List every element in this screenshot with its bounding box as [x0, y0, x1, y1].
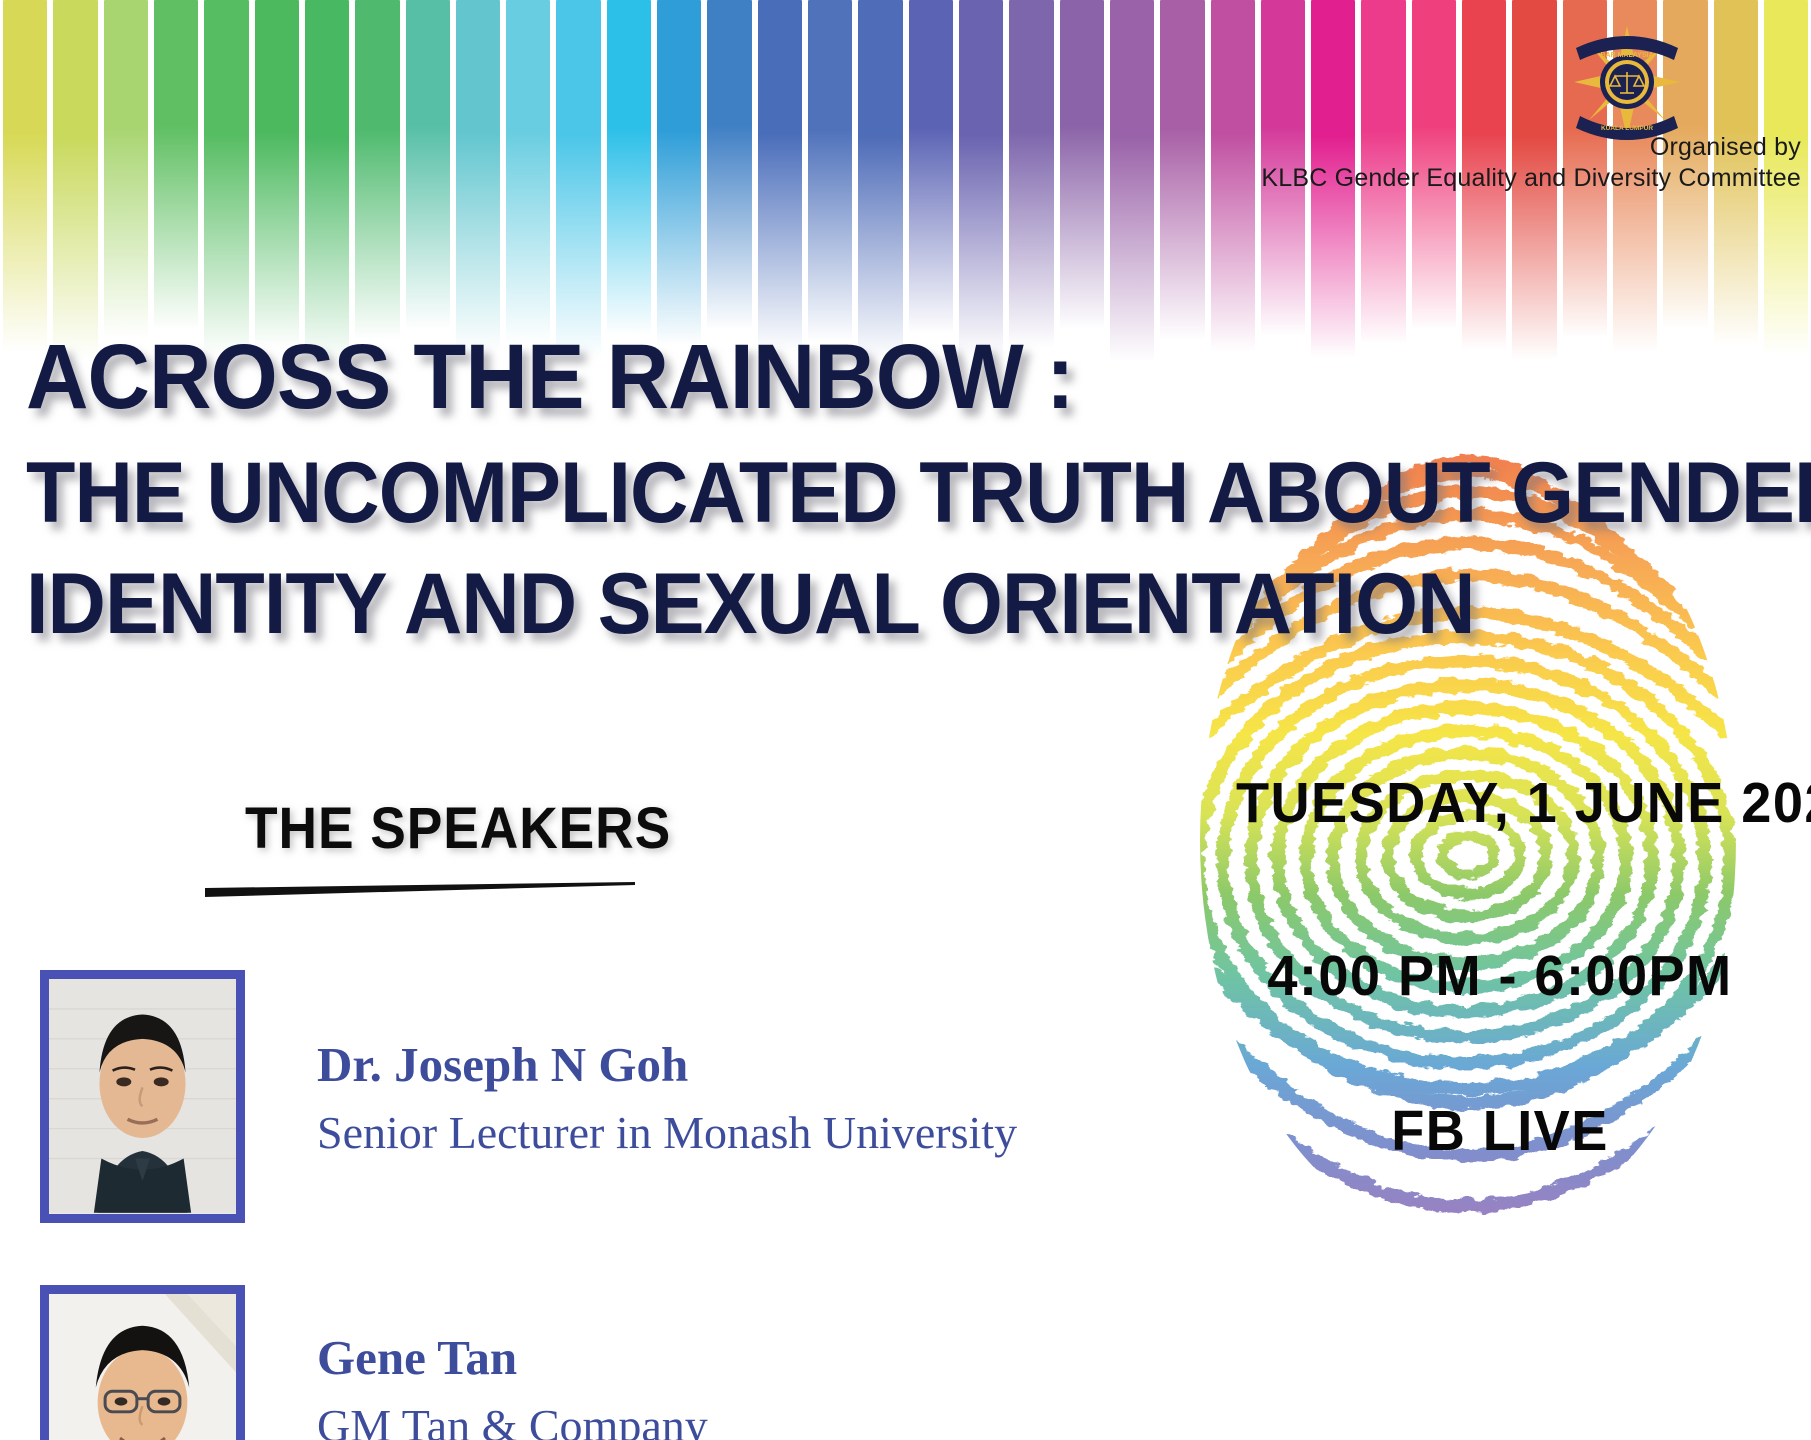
rainbow-bar: [456, 0, 500, 352]
rainbow-bar: [255, 0, 299, 348]
title-line-1: ACROSS THE RAINBOW :: [26, 318, 1680, 438]
rainbow-bar: [355, 0, 399, 340]
poster-canvas: BAR MALAYSIA KUALA LUMPUR Organised by K…: [0, 0, 1811, 1440]
event-time: 4:00 PM - 6:00PM: [1253, 943, 1747, 1009]
rainbow-bar: [858, 0, 902, 360]
logo-banner-top: BAR MALAYSIA: [1600, 52, 1653, 59]
rainbow-bar: [406, 0, 450, 330]
speakers-heading-wrap: THE SPEAKERS: [245, 795, 708, 862]
speaker-item: Gene Tan GM Tan & Company: [40, 1285, 708, 1440]
speaker-role: GM Tan & Company: [317, 1397, 708, 1440]
speaker-photo-joseph-n-goh: [40, 970, 245, 1223]
rainbow-bar: [3, 0, 47, 352]
speaker-role: Senior Lecturer in Monash University: [317, 1104, 1017, 1162]
rainbow-bar: [1160, 0, 1204, 340]
speaker-name: Dr. Joseph N Goh: [317, 1038, 1017, 1092]
speaker-photo-gene-tan: [40, 1285, 245, 1440]
rainbow-bar: [1211, 0, 1255, 352]
rainbow-bar: [707, 0, 751, 330]
rainbow-bar: [1060, 0, 1104, 330]
rainbow-bar: [909, 0, 953, 334]
title-line-2: THE UNCOMPLICATED TRUTH ABOUT GENDER: [26, 438, 1680, 550]
title-line-3: IDENTITY AND SEXUAL ORIENTATION: [26, 549, 1680, 661]
rainbow-bar: [1110, 0, 1154, 362]
rainbow-bar: [104, 0, 148, 338]
speaker-text: Dr. Joseph N Goh Senior Lecturer in Mona…: [317, 970, 1017, 1161]
page-title: ACROSS THE RAINBOW : THE UNCOMPLICATED T…: [26, 318, 1680, 661]
rainbow-bar: [657, 0, 701, 346]
rainbow-bar: [305, 0, 349, 362]
event-date: TUESDAY, 1 JUNE 2021: [1236, 770, 1768, 836]
rainbow-bar: [506, 0, 550, 344]
rainbow-bar: [154, 0, 198, 330]
rainbow-bar: [204, 0, 248, 356]
klbc-malaysian-bar-logo-icon: BAR MALAYSIA KUALA LUMPUR: [1568, 18, 1686, 146]
speaker-name: Gene Tan: [317, 1331, 708, 1385]
rainbow-bar: [1009, 0, 1053, 348]
logo-banner-bottom: KUALA LUMPUR: [1601, 125, 1653, 132]
rainbow-bar: [53, 0, 97, 360]
organiser-credit: Organised by KLBC Gender Equality and Di…: [1261, 132, 1801, 193]
speakers-heading-underline: [205, 882, 635, 898]
organised-by-label: Organised by: [1261, 132, 1801, 163]
rainbow-bar: [556, 0, 600, 358]
event-platform: FB LIVE: [1282, 1098, 1719, 1164]
speaker-item: Dr. Joseph N Goh Senior Lecturer in Mona…: [40, 970, 1017, 1223]
rainbow-bar: [758, 0, 802, 352]
organiser-name: KLBC Gender Equality and Diversity Commi…: [1261, 163, 1801, 194]
speakers-heading: THE SPEAKERS: [245, 795, 671, 862]
rainbow-bar: [808, 0, 852, 342]
speaker-text: Gene Tan GM Tan & Company: [317, 1285, 708, 1440]
rainbow-bar: [607, 0, 651, 336]
rainbow-bar: [959, 0, 1003, 356]
